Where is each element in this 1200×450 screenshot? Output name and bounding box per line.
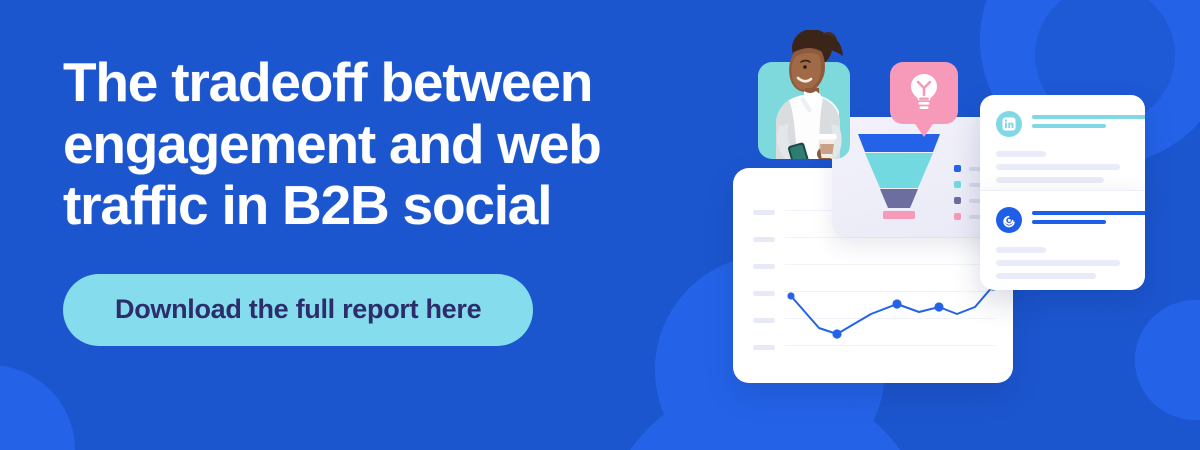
feed-card-title-placeholder bbox=[1032, 115, 1145, 133]
lightbulb-icon bbox=[907, 72, 941, 110]
legend-color-swatch bbox=[954, 165, 961, 172]
social-feed-card-linkedin[interactable] bbox=[980, 95, 1145, 190]
banner-text-column: The tradeoff between engagement and web … bbox=[63, 52, 683, 346]
promo-banner: The tradeoff between engagement and web … bbox=[0, 0, 1200, 450]
funnel-chart bbox=[854, 132, 944, 224]
legend-color-swatch bbox=[954, 181, 961, 188]
linkedin-icon bbox=[1002, 117, 1016, 131]
illustration bbox=[700, 0, 1200, 450]
chart-y-axis-ticks bbox=[753, 210, 775, 372]
spiral-icon bbox=[1001, 212, 1017, 228]
avatar bbox=[996, 111, 1022, 137]
idea-bubble-tail bbox=[913, 121, 935, 137]
page-title: The tradeoff between engagement and web … bbox=[63, 52, 683, 237]
legend-color-swatch bbox=[954, 197, 961, 204]
feed-card-body-placeholder bbox=[980, 137, 1145, 183]
feed-card-body-placeholder bbox=[980, 233, 1145, 279]
feed-card-header bbox=[980, 95, 1145, 137]
deco-circle-left bbox=[0, 365, 75, 450]
person-photo bbox=[749, 30, 864, 160]
download-report-button[interactable]: Download the full report here bbox=[63, 274, 533, 346]
avatar bbox=[996, 207, 1022, 233]
legend-color-swatch bbox=[954, 213, 961, 220]
feed-card-title-placeholder bbox=[1032, 211, 1145, 229]
feed-card-header bbox=[980, 191, 1145, 233]
social-feed-card-secondary[interactable] bbox=[980, 190, 1145, 290]
